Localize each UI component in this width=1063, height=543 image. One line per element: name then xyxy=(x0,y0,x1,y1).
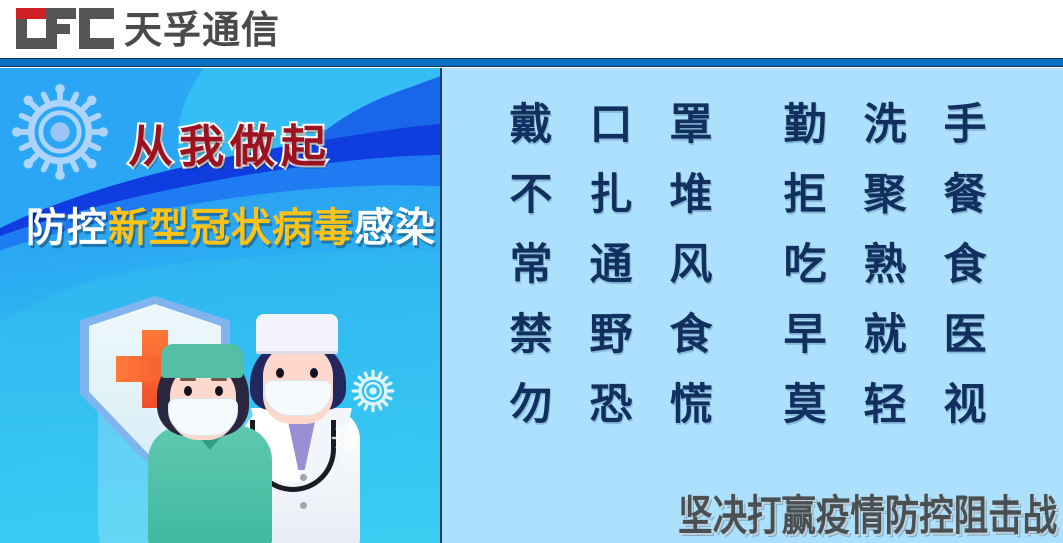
slogan-item: 禁 野 食 xyxy=(510,314,724,357)
slogan-item: 常 通 风 xyxy=(510,244,724,287)
slogan-item: 莫 轻 视 xyxy=(784,384,998,427)
brand-name: 天孚通信 xyxy=(124,11,280,49)
slogan-item: 勿 恐 慌 xyxy=(510,384,724,427)
slogan-item: 不 扎 堆 xyxy=(510,174,724,217)
headline-segment-infection: 感染 xyxy=(354,205,436,251)
poster-headline-secondary: 防控新型冠状病毒感染 xyxy=(26,208,436,248)
page-header: 天孚通信 xyxy=(0,0,1063,58)
headline-segment-virus: 新型冠状病毒 xyxy=(108,205,354,251)
face-mask-icon xyxy=(168,398,238,436)
slogan-item: 早 就 医 xyxy=(784,314,998,357)
virus-icon xyxy=(12,84,108,180)
poster-headline-primary: 从我做起 xyxy=(128,124,332,169)
nurse-brow xyxy=(211,378,227,381)
medical-illustration xyxy=(60,288,390,543)
slogan-row: 不 扎 堆 拒 聚 餐 xyxy=(442,160,1063,230)
logo-bar xyxy=(79,8,114,19)
nurse-cap xyxy=(161,344,243,378)
header-divider-bar xyxy=(0,58,1063,67)
slogan-item: 拒 聚 餐 xyxy=(784,174,998,217)
slogan-row: 戴 口 罩 勤 洗 手 xyxy=(442,90,1063,160)
virus-icon xyxy=(331,423,361,453)
nurse-brow xyxy=(180,378,196,381)
doctor-button xyxy=(300,474,307,481)
footer-slogan: 坚决打赢疫情防控阻击战 xyxy=(678,495,1057,537)
slogan-panel: 戴 口 罩 勤 洗 手 不 扎 堆 拒 聚 餐 常 通 风 吃 熟 食 禁 野 … xyxy=(440,68,1063,543)
brand-logo[interactable]: 天孚通信 xyxy=(16,6,280,51)
logo-bar xyxy=(79,38,114,49)
headline-segment-prevention: 防控 xyxy=(26,205,108,251)
slogan-row: 常 通 风 吃 熟 食 xyxy=(442,230,1063,300)
poster-panel: 从我做起 防控新型冠状病毒感染 xyxy=(0,68,440,543)
slogan-item: 戴 口 罩 xyxy=(510,104,724,147)
virus-icon xyxy=(350,368,396,414)
slogan-item: 勤 洗 手 xyxy=(784,104,998,147)
doctor-cap xyxy=(256,314,338,354)
content-stage: 从我做起 防控新型冠状病毒感染 xyxy=(0,68,1063,543)
slogan-item: 吃 熟 食 xyxy=(784,244,998,287)
doctor-button xyxy=(300,502,307,509)
slogan-grid: 戴 口 罩 勤 洗 手 不 扎 堆 拒 聚 餐 常 通 风 吃 熟 食 禁 野 … xyxy=(442,90,1063,440)
doctor-eye xyxy=(310,368,318,378)
nurse-eye xyxy=(215,386,223,396)
face-mask-icon xyxy=(264,380,332,416)
slogan-row: 禁 野 食 早 就 医 xyxy=(442,300,1063,370)
logo-bar xyxy=(46,8,76,19)
cfc-logo-mark-icon xyxy=(16,6,114,51)
nurse-eye xyxy=(184,386,192,396)
slogan-row: 勿 恐 慌 莫 轻 视 xyxy=(442,370,1063,440)
logo-bar xyxy=(46,24,70,34)
doctor-eye xyxy=(276,368,284,378)
